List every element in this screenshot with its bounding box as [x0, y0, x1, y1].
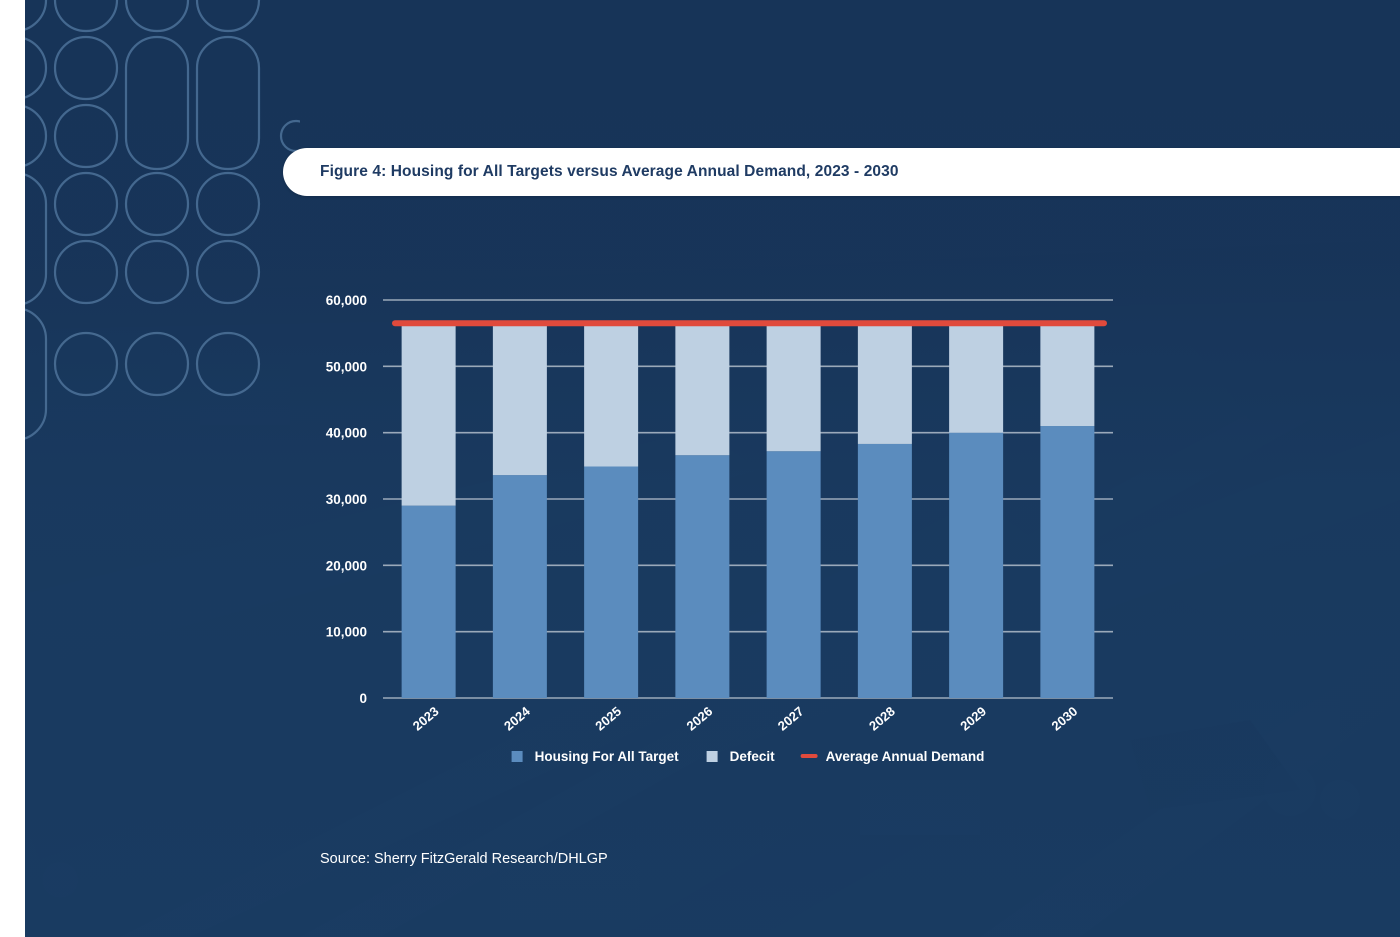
bar-segment-housing-for-all-target: [493, 475, 547, 698]
bar-segment-housing-for-all-target: [402, 506, 456, 698]
chart-gridlines: [383, 300, 1113, 698]
y-axis-tick-label: 50,000: [326, 359, 367, 374]
bar-segment-deficit: [493, 323, 547, 475]
chart-bars: [402, 323, 1095, 698]
legend-label[interactable]: Defecit: [730, 749, 776, 764]
legend-label[interactable]: Average Annual Demand: [826, 749, 985, 764]
legend-marker-square: [707, 751, 718, 762]
bar-segment-housing-for-all-target: [858, 444, 912, 698]
bar-segment-housing-for-all-target: [1040, 426, 1094, 698]
x-axis-tick-label: 2029: [957, 704, 989, 734]
chart-legend: Housing For All TargetDefecitAverage Ann…: [512, 749, 985, 764]
bar-segment-deficit: [858, 323, 912, 444]
bar-segment-housing-for-all-target: [767, 451, 821, 698]
chart-canvas: 010,00020,00030,00040,00050,00060,000 20…: [0, 0, 1400, 937]
y-axis-tick-label: 40,000: [326, 426, 367, 441]
bar-segment-deficit: [402, 323, 456, 505]
x-axis-tick-label: 2030: [1049, 704, 1081, 734]
figure-page: Figure 4: Housing for All Targets versus…: [0, 0, 1400, 937]
x-axis-tick-label: 2025: [592, 704, 624, 734]
page-title: Figure 4: Housing for All Targets versus…: [283, 163, 899, 181]
source-note: Source: Sherry FitzGerald Research/DHLGP: [320, 851, 608, 867]
x-axis-tick-label: 2027: [775, 704, 807, 734]
y-axis-tick-label: 10,000: [326, 625, 367, 640]
x-axis-tick-label: 2026: [684, 704, 716, 734]
x-axis-tick-label: 2028: [866, 704, 898, 734]
legend-label[interactable]: Housing For All Target: [535, 749, 680, 764]
bar-segment-housing-for-all-target: [949, 433, 1003, 698]
bar-segment-deficit: [767, 323, 821, 451]
figure-title-pill: Figure 4: Housing for All Targets versus…: [283, 148, 1400, 196]
x-axis-tick-label: 2023: [410, 704, 442, 734]
y-axis-tick-label: 30,000: [326, 492, 367, 507]
y-axis-tick-label: 0: [359, 691, 367, 706]
chart-y-axis-labels: 010,00020,00030,00040,00050,00060,000: [326, 293, 367, 706]
x-axis-tick-label: 2024: [501, 703, 533, 734]
y-axis-tick-label: 60,000: [326, 293, 367, 308]
bar-segment-deficit: [949, 323, 1003, 432]
bar-segment-deficit: [584, 323, 638, 466]
bar-segment-deficit: [1040, 323, 1094, 426]
y-axis-tick-label: 20,000: [326, 558, 367, 573]
chart-x-axis-labels: 20232024202520262027202820292030: [410, 703, 1081, 734]
legend-marker-square: [512, 751, 523, 762]
bar-segment-housing-for-all-target: [584, 466, 638, 698]
bar-segment-deficit: [675, 323, 729, 455]
bar-segment-housing-for-all-target: [675, 455, 729, 698]
